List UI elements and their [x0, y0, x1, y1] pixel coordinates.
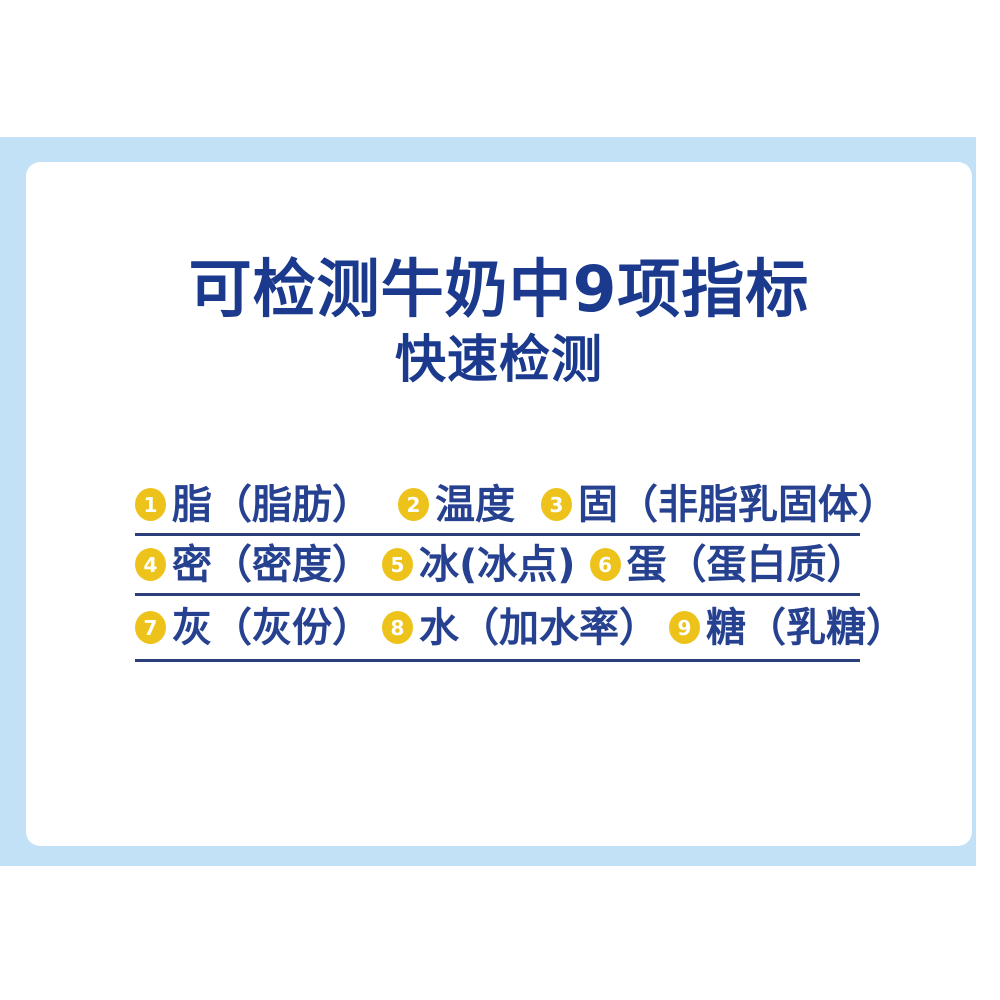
poster-root: 可检测牛奶中9项指标 快速检测 1 脂（脂肪） 2 温度 3 固（非脂乳固体） …: [0, 0, 1000, 1000]
indicator-label: 糖（乳糖）: [706, 608, 906, 648]
indicator-item-3: 3 固（非脂乳固体）: [541, 485, 898, 525]
number-badge-icon: 4: [135, 548, 166, 581]
number-badge-icon: 6: [590, 548, 621, 581]
indicator-item-7: 7 灰（灰份）: [135, 608, 372, 648]
indicator-label: 脂（脂肪）: [172, 485, 372, 525]
number-badge-icon: 3: [541, 488, 572, 521]
indicator-item-1: 1 脂（脂肪）: [135, 485, 372, 525]
indicator-row: 4 密（密度） 5 冰(冰点) 6 蛋（蛋白质）: [135, 536, 860, 596]
indicator-label: 温度: [435, 485, 515, 525]
indicator-label: 冰(冰点): [419, 545, 576, 585]
indicator-item-4: 4 密（密度）: [135, 545, 372, 585]
indicator-item-2: 2 温度: [398, 485, 515, 525]
indicator-item-9: 9 糖（乳糖）: [669, 608, 906, 648]
indicator-item-5: 5 冰(冰点): [382, 545, 576, 585]
page-title: 可检测牛奶中9项指标: [26, 258, 972, 321]
indicator-label: 密（密度）: [172, 545, 372, 585]
number-badge-icon: 5: [382, 548, 413, 581]
number-badge-icon: 8: [382, 611, 413, 644]
number-badge-icon: 9: [669, 611, 700, 644]
indicator-item-8: 8 水（加水率）: [382, 608, 659, 648]
page-subtitle: 快速检测: [26, 335, 972, 386]
number-badge-icon: 7: [135, 611, 166, 644]
indicator-label: 水（加水率）: [419, 608, 659, 648]
indicator-item-6: 6 蛋（蛋白质）: [590, 545, 867, 585]
indicator-row: 1 脂（脂肪） 2 温度 3 固（非脂乳固体）: [135, 476, 860, 536]
indicator-list: 1 脂（脂肪） 2 温度 3 固（非脂乳固体） 4 密（密度） 5 冰(冰点): [135, 476, 860, 662]
indicator-row: 7 灰（灰份） 8 水（加水率） 9 糖（乳糖）: [135, 596, 860, 662]
indicator-label: 灰（灰份）: [172, 608, 372, 648]
number-badge-icon: 2: [398, 488, 429, 521]
number-badge-icon: 1: [135, 488, 166, 521]
title-block: 可检测牛奶中9项指标 快速检测: [26, 258, 972, 386]
indicator-label: 蛋（蛋白质）: [627, 545, 867, 585]
indicator-label: 固（非脂乳固体）: [578, 485, 898, 525]
